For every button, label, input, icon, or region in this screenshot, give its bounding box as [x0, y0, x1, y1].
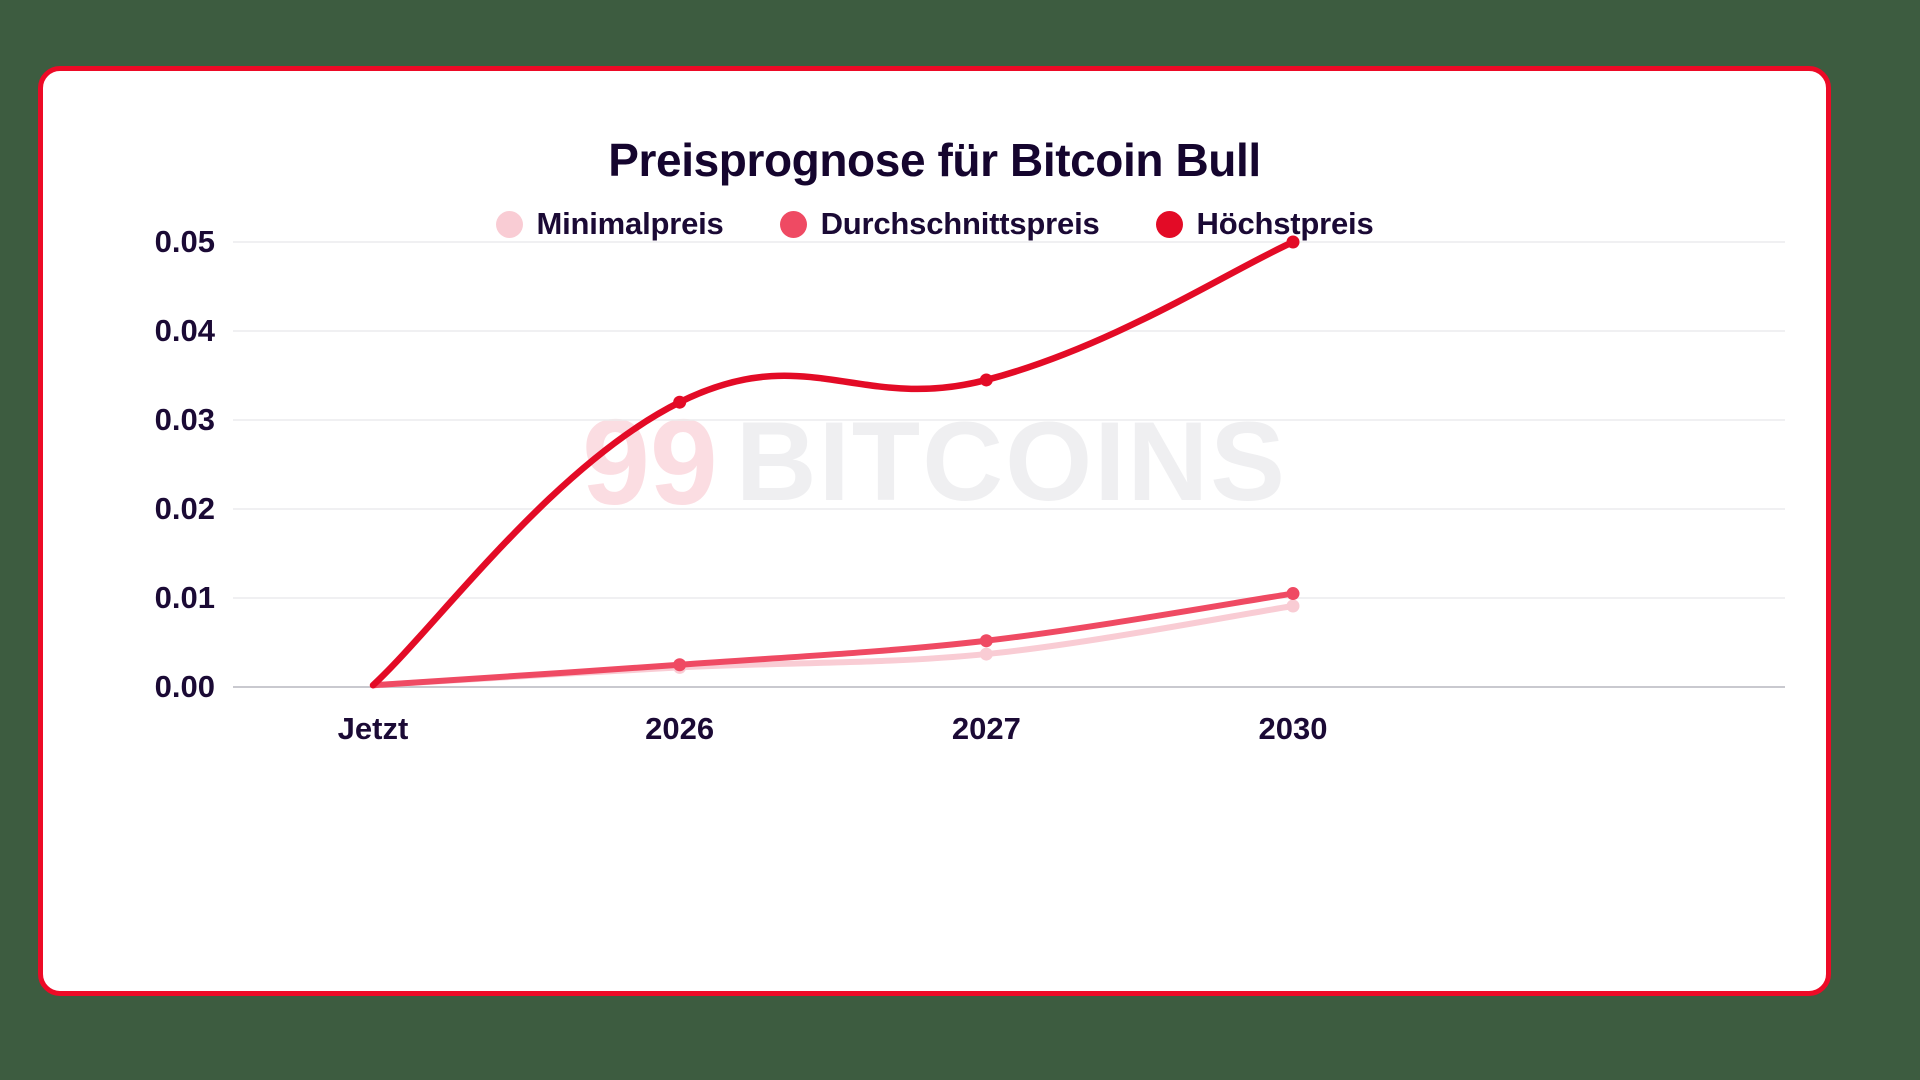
- x-axis-tick-label: 2027: [952, 711, 1021, 747]
- x-axis-tick-label: Jetzt: [338, 711, 409, 747]
- x-axis-tick-label: 2030: [1259, 711, 1328, 747]
- plot-area: 0.000.010.020.030.040.05 Jetzt2026202720…: [43, 71, 1826, 991]
- x-axis-tick-label: 2026: [645, 711, 714, 747]
- x-axis-ticks: Jetzt202620272030: [43, 71, 1826, 996]
- chart-card: 99 BITCOINS Preisprognose für Bitcoin Bu…: [38, 66, 1831, 996]
- screenshot-stage: 99 BITCOINS Preisprognose für Bitcoin Bu…: [0, 0, 1920, 1080]
